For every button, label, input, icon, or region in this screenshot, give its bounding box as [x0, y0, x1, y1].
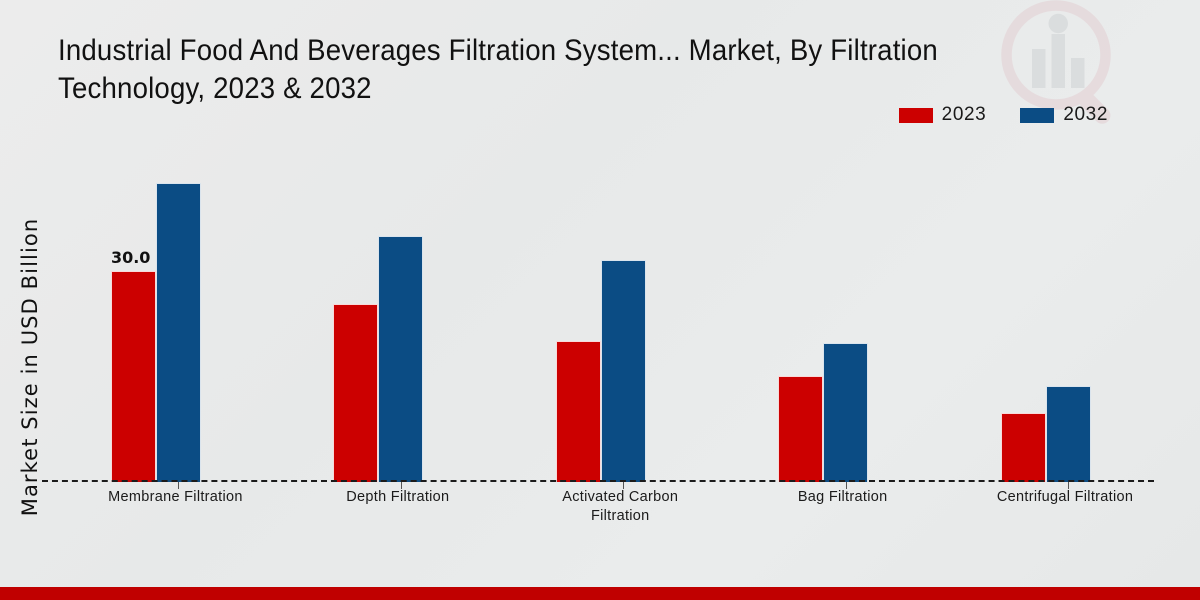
bar-group-centrifugal-filtration: [932, 140, 1154, 482]
bar-2032-centrifugal-filtration[interactable]: [1046, 386, 1091, 482]
bar-group-activated-carbon-filtration: [487, 140, 709, 482]
bar-2032-depth-filtration[interactable]: [378, 236, 423, 482]
y-axis-label: Market Size in USD Billion: [18, 177, 42, 557]
x-axis-label-bag-filtration: Bag Filtration: [709, 488, 931, 583]
x-axis-baseline: [42, 480, 1154, 482]
bar-group-bag-filtration: [709, 140, 931, 482]
legend-item-2032[interactable]: 2032: [1020, 104, 1108, 126]
bar-2023-bag-filtration[interactable]: [778, 376, 823, 482]
bar-2032-activated-carbon-filtration[interactable]: [601, 260, 646, 483]
bar-2023-depth-filtration[interactable]: [333, 304, 378, 482]
y-axis: Market Size in USD Billion: [0, 0, 42, 600]
bar-value-label: 30.0: [111, 248, 150, 267]
chart-title: Industrial Food And Beverages Filtration…: [58, 32, 1033, 108]
x-axis-label-depth-filtration: Depth Filtration: [264, 488, 486, 583]
x-axis-label-centrifugal-filtration: Centrifugal Filtration: [932, 488, 1154, 583]
legend-item-2023[interactable]: 2023: [899, 104, 987, 126]
bar-group-depth-filtration: [264, 140, 486, 482]
x-axis-label-membrane-filtration: Membrane Filtration: [42, 488, 264, 583]
legend-label-2023: 2023: [942, 104, 987, 126]
legend-label-2032: 2032: [1063, 104, 1108, 126]
bar-2032-membrane-filtration[interactable]: [156, 183, 201, 482]
bar-2023-centrifugal-filtration[interactable]: [1001, 413, 1046, 482]
bar-groups: 30.0: [42, 140, 1154, 482]
plot-area: 30.0: [42, 140, 1154, 482]
bar-2023-activated-carbon-filtration[interactable]: [556, 341, 601, 482]
legend-swatch-2023: [899, 108, 933, 123]
legend-swatch-2032: [1020, 108, 1054, 123]
x-axis-labels: Membrane Filtration Depth Filtration Act…: [42, 488, 1154, 583]
chart-canvas: Industrial Food And Beverages Filtration…: [0, 0, 1200, 600]
bar-group-membrane-filtration: 30.0: [42, 140, 264, 482]
x-axis-label-activated-carbon-filtration: Activated Carbon Filtration: [487, 488, 709, 583]
footer-accent-bar: [0, 587, 1200, 600]
bar-2023-membrane-filtration[interactable]: 30.0: [111, 271, 156, 482]
chart-legend: 2023 2032: [899, 104, 1108, 126]
bar-2032-bag-filtration[interactable]: [823, 343, 868, 482]
